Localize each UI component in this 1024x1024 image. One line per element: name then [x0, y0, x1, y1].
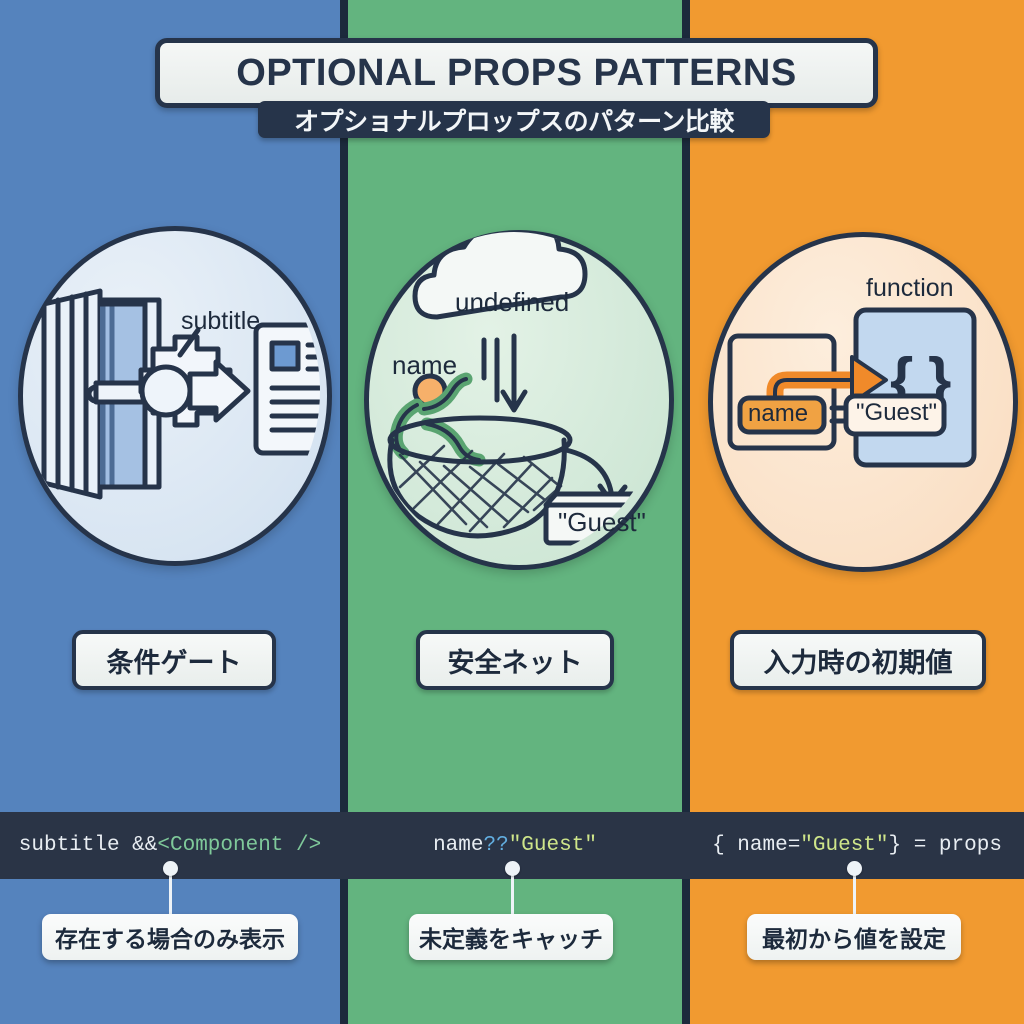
annotation-function: function [866, 274, 954, 303]
pattern-label-conditional-gate: 条件ゲート [72, 630, 276, 690]
code-token: subtitle && [19, 834, 158, 857]
annotation-guest-block: "Guest" [558, 507, 646, 538]
code-token: = [788, 834, 801, 857]
code-token: } = props [889, 834, 1002, 857]
annotation-undefined: undefined [455, 287, 569, 318]
infographic-poster: OPTIONAL PROPS PATTERNS オプショナルプロップスのパターン… [0, 0, 1024, 1024]
callout-text: 存在する場合のみ表示 [55, 920, 285, 954]
callout-text: 未定義をキャッチ [419, 920, 603, 954]
pattern-label-text: 入力時の初期値 [764, 641, 953, 680]
page-title: OPTIONAL PROPS PATTERNS [155, 38, 878, 108]
pattern-label-default-parameter: 入力時の初期値 [730, 630, 986, 690]
pin-stem [511, 873, 514, 919]
pattern-label-text: 条件ゲート [107, 641, 242, 680]
page-subtitle: オプショナルプロップスのパターン比較 [258, 101, 770, 138]
pattern-label-safety-net: 安全ネット [416, 630, 614, 690]
code-token: "Guest" [509, 834, 597, 857]
callout-default-parameter: 最初から値を設定 [747, 914, 961, 960]
pin-stem [169, 873, 172, 919]
pin-dot [163, 861, 178, 876]
pattern-label-text: 安全ネット [448, 641, 583, 680]
code-token: ?? [483, 834, 508, 857]
code-token: <Component /> [157, 834, 321, 857]
annotation-param-name: name [748, 400, 808, 428]
page-title-text: OPTIONAL PROPS PATTERNS [236, 52, 796, 95]
code-token: name [433, 834, 483, 857]
annotation-subtitle: subtitle [181, 307, 260, 336]
callout-conditional-gate: 存在する場合のみ表示 [42, 914, 298, 960]
code-token: { name [712, 834, 788, 857]
page-subtitle-text: オプショナルプロップスのパターン比較 [294, 102, 734, 138]
code-token: "Guest" [800, 834, 888, 857]
annotation-default-value: "Guest" [856, 399, 937, 427]
pin-stem [853, 873, 856, 919]
pin-dot [847, 861, 862, 876]
callout-safety-net: 未定義をキャッチ [409, 914, 613, 960]
pin-dot [505, 861, 520, 876]
annotation-name: name [392, 350, 457, 381]
callout-text: 最初から値を設定 [762, 920, 946, 954]
illustration-circle-conditional-gate [18, 226, 332, 566]
